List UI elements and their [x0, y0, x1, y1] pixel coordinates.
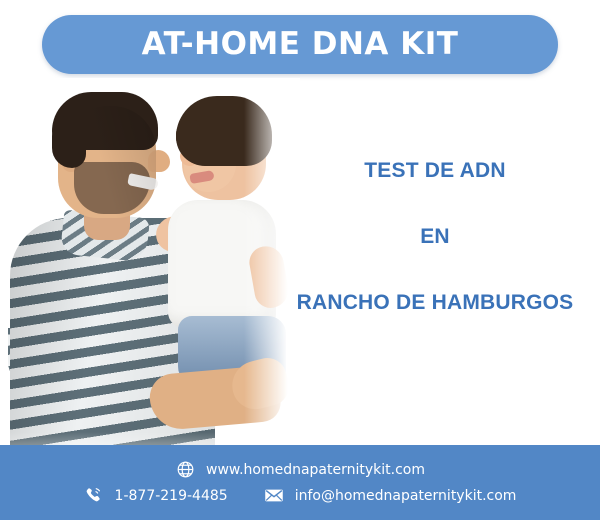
contact-footer: www.homednapaternitykit.com 1-877-219-44…: [0, 445, 600, 520]
page-title: AT-HOME DNA KIT: [142, 29, 459, 60]
email-label: info@homednapaternitykit.com: [295, 489, 517, 503]
email-contact-item[interactable]: info@homednapaternitykit.com: [264, 486, 517, 506]
footer-row-website: www.homednapaternitykit.com: [175, 460, 425, 480]
phone-label: 1-877-219-4485: [115, 489, 228, 503]
headline-line-3: RANCHO DE HAMBURGOS: [280, 292, 590, 313]
headline-line-2: EN: [280, 226, 590, 247]
globe-icon: [175, 460, 195, 480]
header-title-pill: AT-HOME DNA KIT: [42, 15, 558, 74]
child-hair-fringe: [176, 120, 200, 150]
website-contact-item[interactable]: www.homednapaternitykit.com: [175, 460, 425, 480]
father-head-shading: [58, 106, 156, 218]
photo-canvas: [0, 78, 300, 458]
website-label: www.homednapaternitykit.com: [206, 463, 425, 477]
headline-block: TEST DE ADN EN RANCHO DE HAMBURGOS: [280, 160, 590, 313]
dna-kit-poster: AT-HOME DNA KIT: [0, 0, 600, 520]
phone-icon: [84, 486, 104, 506]
headline-line-1: TEST DE ADN: [280, 160, 590, 181]
family-photo: [0, 78, 300, 458]
phone-contact-item[interactable]: 1-877-219-4485: [84, 486, 228, 506]
envelope-icon: [264, 486, 284, 506]
footer-row-phone-email: 1-877-219-4485 info@homednapaternitykit.…: [84, 486, 517, 506]
